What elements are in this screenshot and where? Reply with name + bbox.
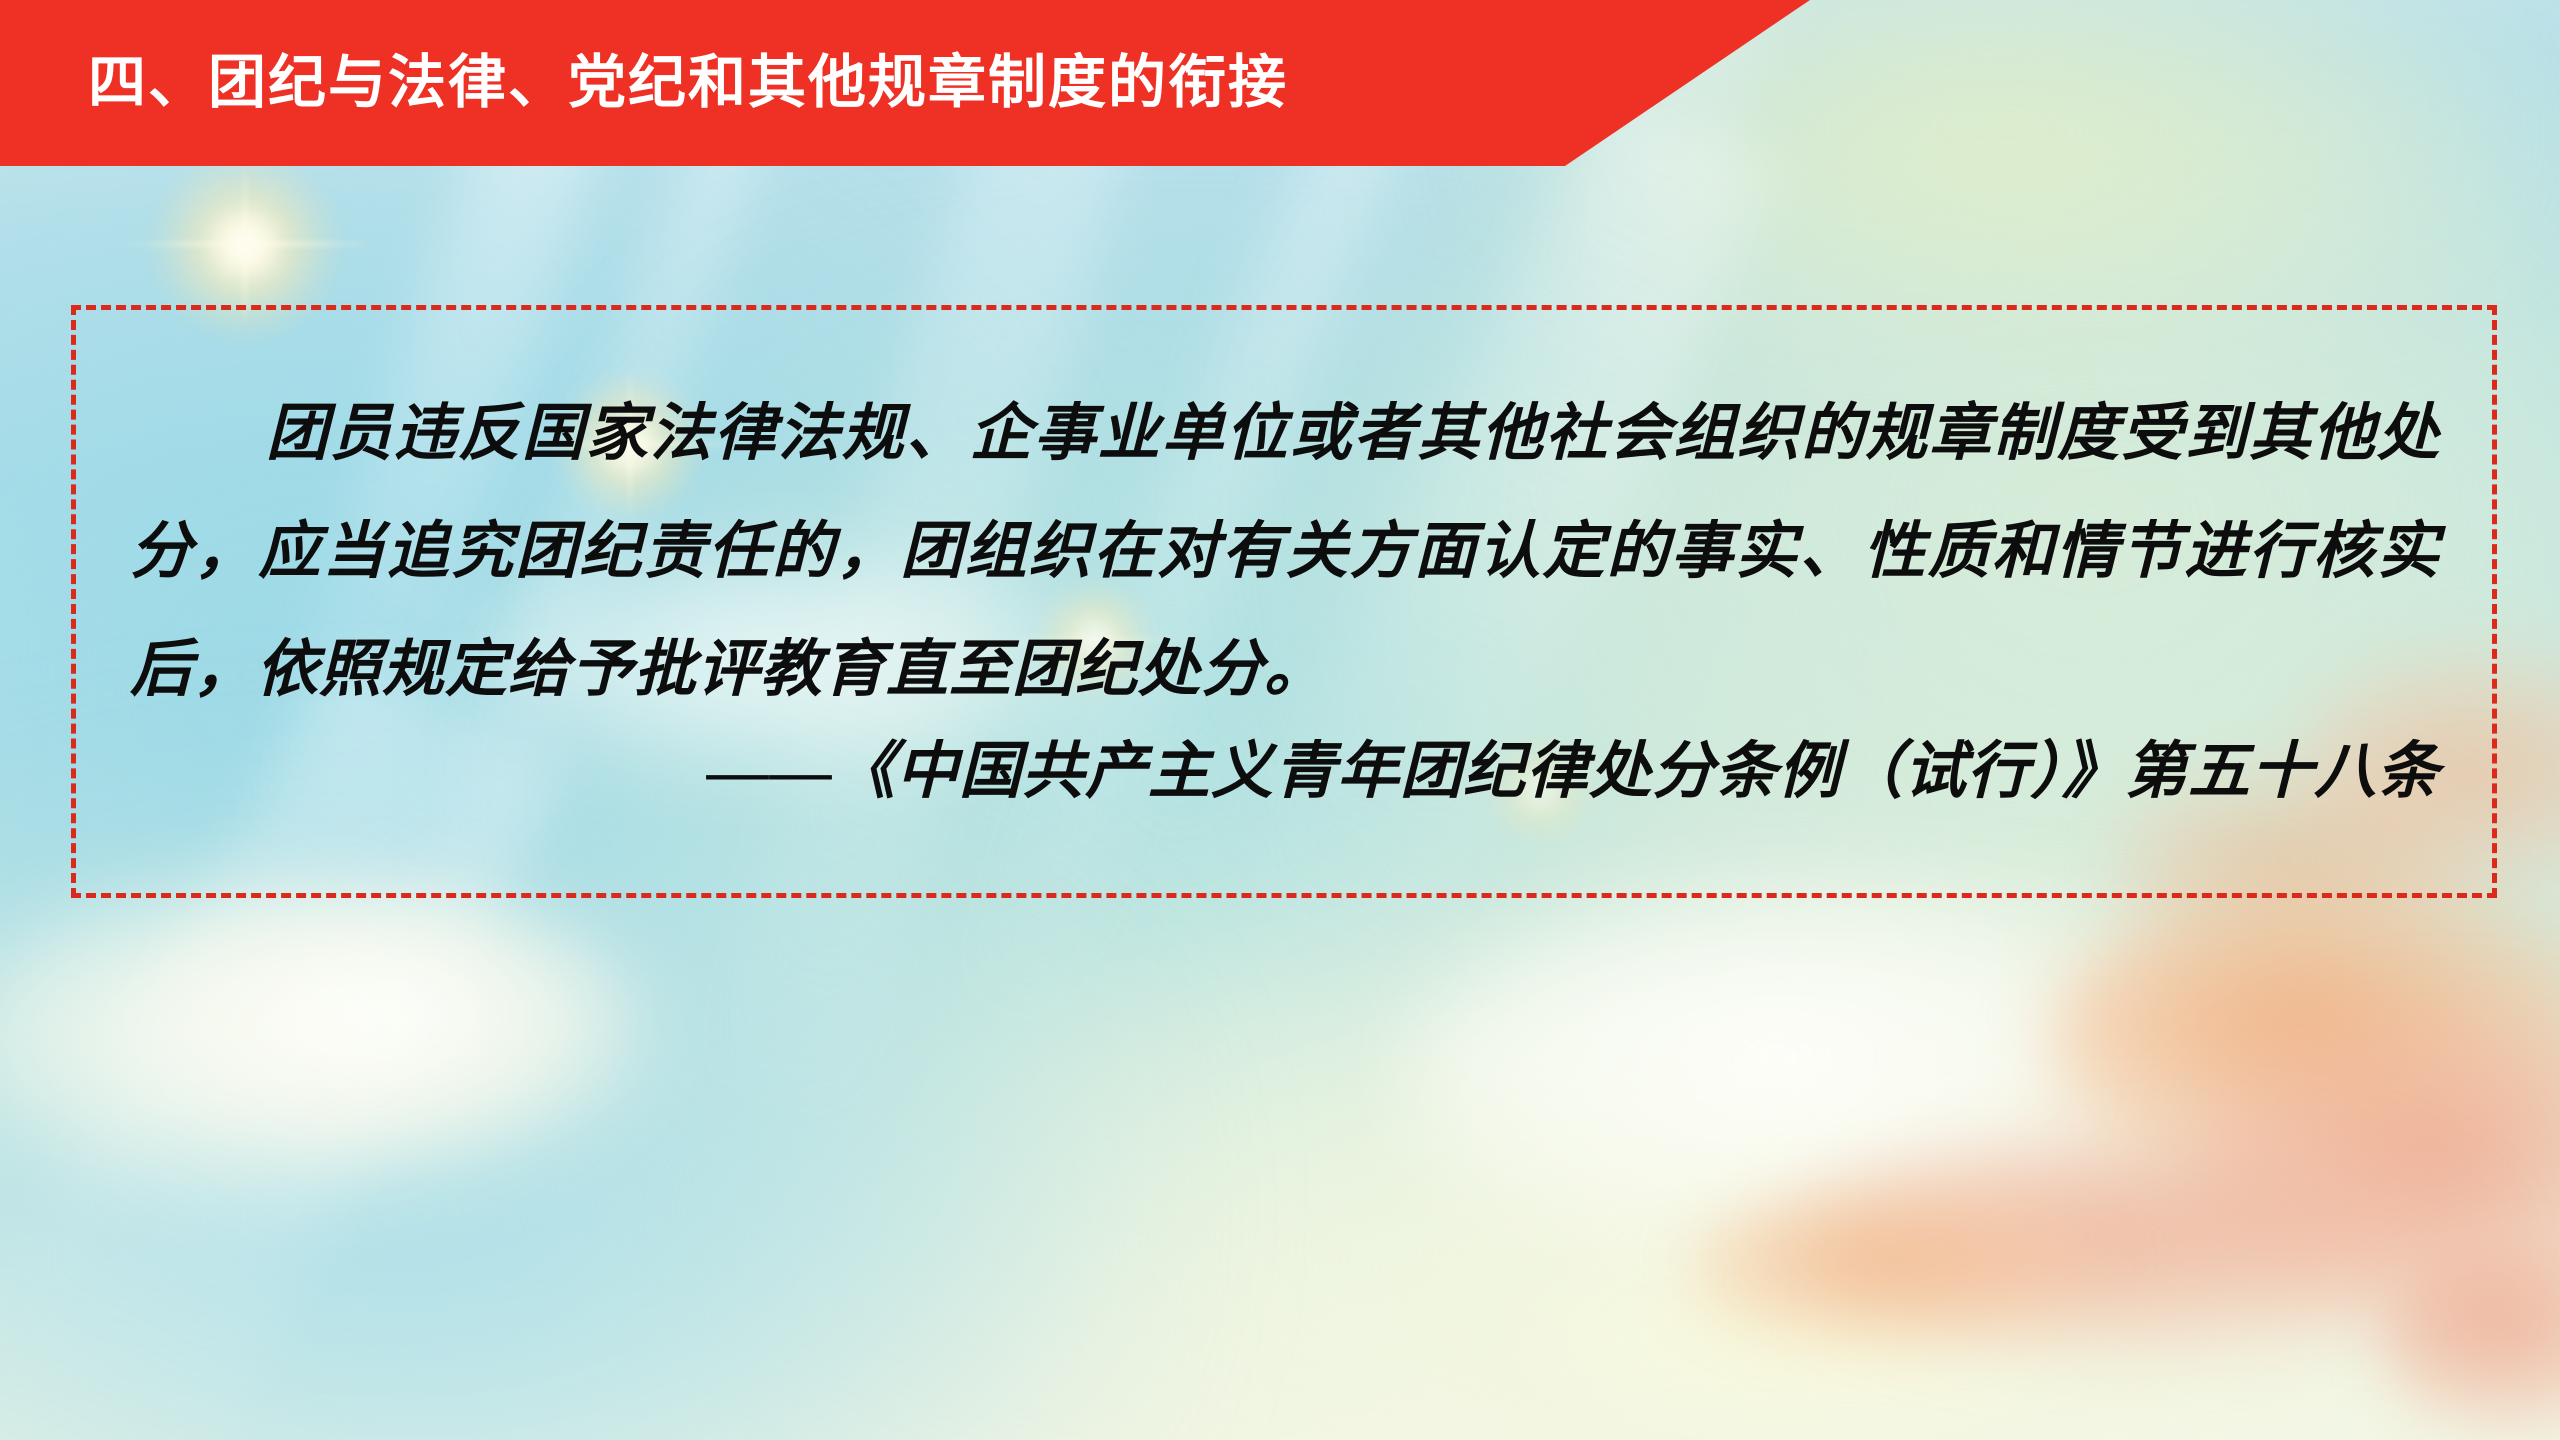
quote-paragraph: 团员违反国家法律法规、企事业单位或者其他社会组织的规章制度受到其他处分，应当追究… xyxy=(130,375,2440,729)
page-title: 四、团纪与法律、党纪和其他规章制度的衔接 xyxy=(88,0,1288,166)
quote-body: 团员违反国家法律法规、企事业单位或者其他社会组织的规章制度受到其他处分，应当追究… xyxy=(130,375,2440,729)
slide-canvas: 四、团纪与法律、党纪和其他规章制度的衔接 团员违反国家法律法规、企事业单位或者其… xyxy=(0,0,2560,1440)
quote-attribution: ——《中国共产主义青年团纪律处分条例（试行）》第五十八条 xyxy=(130,722,2440,822)
